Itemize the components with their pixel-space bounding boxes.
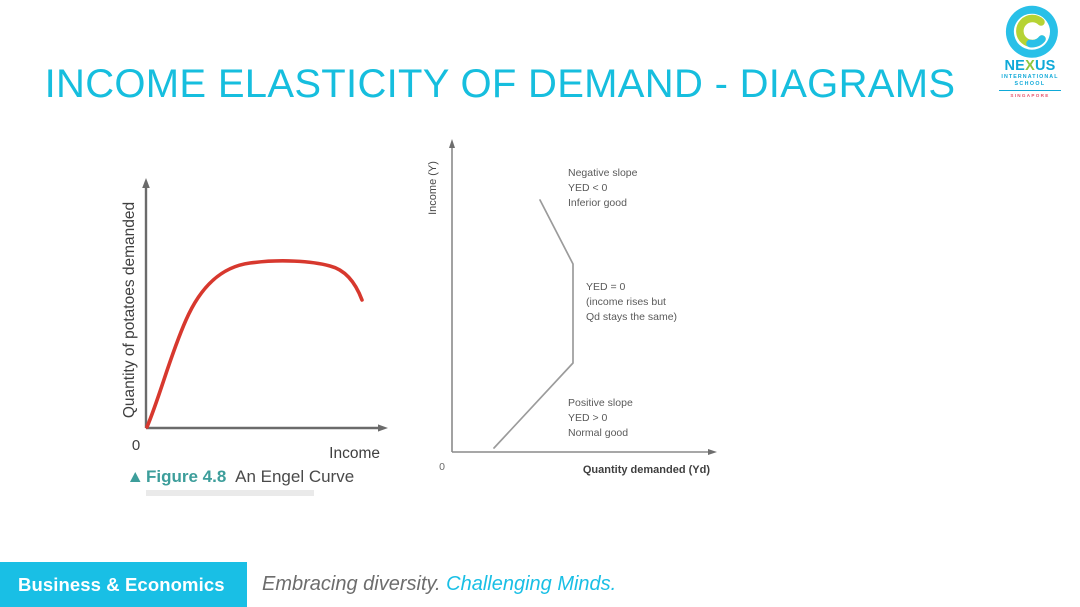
engel-curve-chart: Quantity of potatoes demanded 0 Income F… [108,160,418,505]
origin-label: 0 [132,437,140,454]
figure-yed-diagram: Income (Y) 0 Quantity demanded (Yd) Nega… [420,128,750,488]
annotation-positive-slope-line-1: Positive slope [568,397,633,409]
footer-badge: Business & Economics [0,562,247,607]
y-axis-label: Quantity of potatoes demanded [121,202,138,418]
footer-tagline-part1: Embracing diversity. [262,573,441,595]
annotation-positive-slope-line-2: YED > 0 [568,412,608,424]
annotation-zero-yed-line-3: Qd stays the same) [586,311,677,323]
footer-badge-label: Business & Economics [18,574,225,596]
annotation-negative-slope-line-1: Negative slope [568,167,638,179]
x-axis-label: Income [329,445,380,462]
nexus-logo: NEXUS INTERNATIONAL SCHOOL SINGAPORE [988,2,1072,99]
yed-curve-line [494,200,573,448]
figure-engel-curve: Quantity of potatoes demanded 0 Income F… [108,160,418,505]
page-title: INCOME ELASTICITY OF DEMAND - DIAGRAMS [0,62,1000,107]
annotation-negative-slope: Negative slope YED < 0 Inferior good [568,167,638,209]
logo-wordmark: NEXUS [988,59,1072,74]
logo-line-school: SCHOOL [988,81,1072,88]
nexus-spiral-icon [1001,2,1059,60]
x-axis-label: Quantity demanded (Yd) [583,464,710,476]
y-axis-label: Income (Y) [427,161,439,215]
caption-figure-text: An Engel Curve [235,467,354,486]
logo-line-international: INTERNATIONAL [988,74,1072,82]
y-axis-arrow [142,178,150,188]
footer-bar: Business & Economics Embracing diversity… [0,562,1080,607]
logo-line-singapore: SINGAPORE [988,93,1072,99]
figure-caption: Figure 4.8 An Engel Curve [146,467,354,486]
annotation-positive-slope-line-3: Normal good [568,427,628,439]
caption-figure-number: Figure 4.8 [146,467,226,486]
annotation-zero-yed: YED = 0 (income rises but Qd stays the s… [586,281,677,323]
annotation-positive-slope: Positive slope YED > 0 Normal good [568,397,633,439]
footer-tagline-part2: Challenging Minds. [446,573,616,595]
logo-wordmark-post: US [1035,58,1056,74]
logo-divider [999,90,1061,92]
logo-wordmark-x: X [1025,58,1035,74]
footer-tagline: Embracing diversity. Challenging Minds. [262,573,616,596]
annotation-negative-slope-line-2: YED < 0 [568,182,608,194]
annotation-zero-yed-line-2: (income rises but [586,296,666,308]
x-axis-arrow [708,449,717,455]
x-axis-arrow [378,424,388,431]
y-axis-arrow [449,139,455,148]
yed-diagram-chart: Income (Y) 0 Quantity demanded (Yd) Nega… [420,128,750,488]
annotation-zero-yed-line-1: YED = 0 [586,281,626,293]
engel-curve-line [147,261,362,427]
caption-clipped-line [146,490,314,496]
logo-wordmark-pre: NE [1005,58,1026,74]
origin-label: 0 [439,461,445,473]
caption-triangle-icon [130,472,141,482]
annotation-negative-slope-line-3: Inferior good [568,197,627,209]
